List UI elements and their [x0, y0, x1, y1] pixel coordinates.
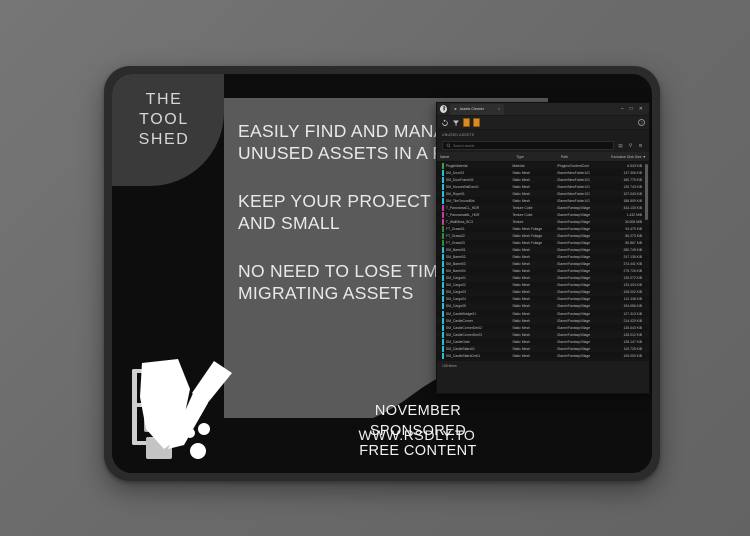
cell-path: /Game/FantasyVillage	[554, 312, 601, 316]
asset-type-color-icon	[442, 311, 444, 317]
cell-size: 94.479 KiB	[600, 227, 645, 231]
asset-name-label: SM_TileGroundBrk	[446, 199, 475, 203]
table-row[interactable]: T_PanoramaML_HDRTexture Cube/Game/Fantas…	[437, 211, 649, 218]
asset-type-color-icon	[442, 318, 444, 324]
brand-logo-panel: THE TOOL SHED	[112, 74, 224, 186]
cell-size: 214.420 KiB	[600, 319, 645, 323]
cell-size: 1.432 MiB	[600, 213, 645, 217]
cell-type: Static Mesh	[509, 178, 554, 182]
tablet-screen: EASILY FIND AND MANAGE UNUSED ASSETS IN …	[112, 74, 652, 473]
cell-path: /Game/FantasyVillage	[554, 326, 601, 330]
cell-size: 108.002 KiB	[600, 290, 645, 294]
cell-size: 6.543 KiB	[600, 164, 645, 168]
table-row[interactable]: SM_HouseWallDec01Static Mesh/Game/NewFol…	[437, 183, 649, 190]
asset-name-label: SM_Barrel03	[446, 262, 466, 266]
cell-type: Static Mesh	[509, 297, 554, 301]
asset-type-color-icon	[442, 184, 444, 190]
table-row[interactable]: T_PanoramaCL_HDRTexture Cube/Game/Fantas…	[437, 204, 649, 211]
cell-name: SM_Cargo04	[437, 296, 509, 302]
cell-type: Static Mesh	[509, 171, 554, 175]
cell-path: /Game/FantasyVillage	[554, 290, 601, 294]
table-row[interactable]: FT_Grass02Static Mesh Foliage/Game/Fanta…	[437, 232, 649, 239]
cell-path: /Game/NewFolder1/G	[554, 199, 601, 203]
cell-path: /Game/FantasyVillage	[554, 262, 601, 266]
asset-name-label: PluginMaterial	[446, 164, 468, 168]
cell-path: /Game/FantasyVillage	[554, 276, 601, 280]
asset-name-label: SM_CastleCorner	[446, 319, 473, 323]
table-row[interactable]: SM_CastleStairsDm02Static Mesh/Game/Fant…	[437, 359, 649, 360]
asset-name-label: SM_Cargo01	[446, 276, 466, 280]
cell-path: /Game/FantasyVillage	[554, 241, 601, 245]
cell-size: 127.313 KiB	[600, 312, 645, 316]
cell-type: Static Mesh	[509, 304, 554, 308]
search-input[interactable]: Search assets	[442, 141, 614, 150]
brand-line-3: SHED	[112, 130, 216, 150]
cell-path: /Game/FantasyVillage	[554, 297, 601, 301]
table-row[interactable]: SM_TileGroundBrkStatic Mesh/Game/NewFold…	[437, 197, 649, 204]
cell-size: 80.867 KiB	[600, 241, 645, 245]
cell-type: Static Mesh Foliage	[509, 241, 554, 245]
column-header-size-label: Exclusive Disk Size	[611, 155, 641, 159]
table-row[interactable]: SM_DoorFrame01Static Mesh/Game/NewFolder…	[437, 176, 649, 183]
assets-cleaner-window[interactable]: ► Assets Cleaner x – □ ✕	[436, 102, 650, 394]
cell-name: PluginMaterial	[437, 163, 509, 169]
asset-type-color-icon	[442, 212, 444, 218]
column-header-name[interactable]: Name	[437, 155, 513, 159]
table-row[interactable]: SM_CastleStairs01Static Mesh/Game/Fantas…	[437, 345, 649, 352]
cell-type: Static Mesh	[509, 290, 554, 294]
asset-type-color-icon	[442, 226, 444, 232]
cell-path: /Game/NewFolder1/G	[554, 185, 601, 189]
help-icon[interactable]: ?	[638, 119, 645, 126]
cell-name: SM_TileGroundBrk	[437, 198, 509, 204]
tablet-device: EASILY FIND AND MANAGE UNUSED ASSETS IN …	[104, 66, 660, 481]
cell-path: /Game/NewFolder1/G	[554, 192, 601, 196]
table-row[interactable]: SM_Cargo03Static Mesh/Game/FantasyVillag…	[437, 289, 649, 296]
cell-name: FT_Grass03	[437, 240, 509, 246]
cell-size: 180.779 KiB	[600, 178, 645, 182]
cell-name: SM_CastleCornerDm03	[437, 332, 509, 338]
close-icon[interactable]: ✕	[639, 107, 643, 112]
table-row[interactable]: SM_Door03Static Mesh/Game/NewFolder1/G13…	[437, 169, 649, 176]
cell-size: 135.012 KiB	[600, 333, 645, 337]
cell-size: 194.656 KiB	[600, 304, 645, 308]
cell-size: 80.273 KiB	[600, 234, 645, 238]
cell-type: Static Mesh	[509, 269, 554, 273]
asset-type-color-icon	[442, 303, 444, 309]
cell-type: Material	[509, 164, 554, 168]
cell-type: Static Mesh	[509, 347, 554, 351]
asset-type-color-icon	[442, 275, 444, 281]
cell-name: SM_HouseWallDec01	[437, 184, 509, 190]
asset-name-label: SM_Cargo04	[446, 297, 466, 301]
unreal-engine-logo-icon	[440, 105, 447, 113]
search-icon	[446, 143, 451, 148]
asset-name-label: SM_Cargo03	[446, 290, 466, 294]
asset-type-color-icon	[442, 163, 444, 169]
cell-type: Static Mesh	[509, 199, 554, 203]
cell-size: 280.749 KiB	[600, 248, 645, 252]
asset-type-color-icon	[442, 339, 444, 345]
cell-size: 105.000 KiB	[600, 354, 645, 358]
table-rows[interactable]: PluginMaterialMaterial/Plugins/ContentCo…	[437, 162, 649, 360]
promo-line-1: NOVEMBER	[318, 401, 518, 421]
cell-size: 112.446 KiB	[600, 297, 645, 301]
asset-type-color-icon	[442, 261, 444, 267]
cell-type: Static Mesh	[509, 276, 554, 280]
cell-path: /Game/FantasyVillage	[554, 269, 601, 273]
table-row[interactable]: SM_Rope01Static Mesh/Game/NewFolder1/G10…	[437, 190, 649, 197]
table-row[interactable]: SM_Cargo02Static Mesh/Game/FantasyVillag…	[437, 282, 649, 289]
column-header-size[interactable]: Exclusive Disk Size ▼	[604, 155, 649, 159]
cell-size: 186.809 KiB	[600, 199, 645, 203]
asset-type-color-icon	[442, 296, 444, 302]
asset-name-label: FT_Grass03	[446, 241, 465, 245]
asset-name-label: FT_Grass02	[446, 234, 465, 238]
play-icon: ►	[454, 107, 458, 111]
cell-path: /Game/FantasyVillage	[554, 354, 601, 358]
cell-name: T_WallMoss_BC3	[437, 219, 509, 225]
cell-path: /Game/FantasyVillage	[554, 347, 601, 351]
window-tab[interactable]: ► Assets Cleaner x	[450, 104, 504, 115]
table-row[interactable]: SM_Cargo04Static Mesh/Game/FantasyVillag…	[437, 296, 649, 303]
cell-path: /Game/FantasyVillage	[554, 304, 601, 308]
cell-name: SM_CastleStairsDm01	[437, 353, 509, 359]
poster-canvas: EASILY FIND AND MANAGE UNUSED ASSETS IN …	[0, 0, 750, 536]
cell-name: SM_Rope01	[437, 191, 509, 197]
cell-size: 247.135 KiB	[600, 255, 645, 259]
asset-type-color-icon	[442, 268, 444, 274]
cell-size: 275.726 KiB	[600, 269, 645, 273]
table-row[interactable]: SM_CastleGateStatic Mesh/Game/FantasyVil…	[437, 338, 649, 345]
settings-gear-icon[interactable]: ⚙	[637, 142, 644, 149]
maximize-icon[interactable]: □	[630, 107, 633, 112]
search-placeholder: Search assets	[453, 144, 475, 148]
cell-type: Static Mesh	[509, 248, 554, 252]
asset-name-label: FT_Grass01	[446, 227, 465, 231]
cell-type: Static Mesh	[509, 192, 554, 196]
table-row[interactable]: FT_Grass03Static Mesh Foliage/Game/Fanta…	[437, 240, 649, 247]
cell-name: FT_Grass01	[437, 226, 509, 232]
asset-name-label: SM_Barrel02	[446, 255, 466, 259]
brand-line-2: TOOL	[112, 110, 216, 130]
asset-name-label: SM_CastleGate	[446, 340, 470, 344]
cell-type: Static Mesh	[509, 326, 554, 330]
asset-name-label: SM_CastleStairs01	[446, 347, 475, 351]
watermark-url: WWW.RSDLY.TO	[302, 427, 532, 443]
asset-type-color-icon	[442, 233, 444, 239]
cell-name: SM_Cargo03	[437, 289, 509, 295]
asset-type-color-icon	[442, 247, 444, 253]
section-label: UNUSED ASSETS	[437, 130, 649, 139]
table-row[interactable]: SM_CastleBridge01Static Mesh/Game/Fantas…	[437, 310, 649, 317]
asset-name-label: SM_Rope01	[446, 192, 465, 196]
asset-type-color-icon	[442, 346, 444, 352]
table-row[interactable]: SM_CastleCornerDm02Static Mesh/Game/Fant…	[437, 324, 649, 331]
search-row[interactable]: Search assets ▤ ∇ ⚙	[437, 139, 649, 152]
asset-type-color-icon	[442, 282, 444, 288]
minimize-icon[interactable]: –	[621, 107, 624, 112]
table-row[interactable]: SM_CastleCornerStatic Mesh/Game/FantasyV…	[437, 317, 649, 324]
asset-type-color-icon	[442, 240, 444, 246]
cell-path: /Game/FantasyVillage	[554, 206, 601, 210]
cell-name: SM_Cargo02	[437, 282, 509, 288]
asset-name-label: SM_Cargo02	[446, 283, 466, 287]
cell-type: Static Mesh	[509, 340, 554, 344]
asset-name-label: SM_CastleCornerDm02	[446, 326, 482, 330]
asset-type-color-icon	[442, 219, 444, 225]
cell-type: Texture Cube	[509, 206, 554, 210]
cell-name: T_PanoramaML_HDR	[437, 212, 509, 218]
brand-logo-text: THE TOOL SHED	[112, 90, 216, 150]
table-row[interactable]: T_WallMoss_BC3Texture/Game/FantasyVillag…	[437, 218, 649, 225]
cell-name: SM_CastleStairs01	[437, 346, 509, 352]
cell-name: SM_CastleCorner	[437, 318, 509, 324]
table-row[interactable]: SM_Barrel04Static Mesh/Game/FantasyVilla…	[437, 268, 649, 275]
cell-name: SM_CastleGate	[437, 339, 509, 345]
refresh-icon[interactable]	[441, 119, 449, 127]
window-controls[interactable]: – □ ✕	[621, 107, 646, 112]
cell-name: SM_Door03	[437, 170, 509, 176]
cell-type: Texture Cube	[509, 213, 554, 217]
cell-type: Static Mesh	[509, 185, 554, 189]
filter-dropdown-icon[interactable]: ∇	[627, 142, 634, 149]
cell-size: 133.404 KiB	[600, 283, 645, 287]
cell-path: /Game/FantasyVillage	[554, 283, 601, 287]
cell-size: 135.643 KiB	[600, 326, 645, 330]
asset-name-label: SM_DoorFrame01	[446, 178, 474, 182]
table-row[interactable]: SM_Barrel01Static Mesh/Game/FantasyVilla…	[437, 247, 649, 254]
cell-size: 434.130 KiB	[600, 206, 645, 210]
column-header-path[interactable]: Path	[558, 155, 605, 159]
cell-type: Static Mesh	[509, 255, 554, 259]
asset-type-color-icon	[442, 332, 444, 338]
cell-size: 374.441 KiB	[600, 262, 645, 266]
asset-type-color-icon	[442, 353, 444, 359]
cell-size: 130.072 KiB	[600, 276, 645, 280]
asset-type-color-icon	[442, 205, 444, 211]
asset-type-color-icon	[442, 170, 444, 176]
asset-name-label: SM_Barrel01	[446, 248, 466, 252]
cell-name: SM_CastleCornerDm02	[437, 325, 509, 331]
cell-type: Texture	[509, 220, 554, 224]
cell-size: 34.006 MiB	[600, 220, 645, 224]
cell-path: /Game/FantasyVillage	[554, 333, 601, 337]
cell-size: 130.743 KiB	[600, 185, 645, 189]
cell-path: /Game/FantasyVillage	[554, 220, 601, 224]
asset-name-label: SM_CastleBridge01	[446, 312, 476, 316]
cell-type: Static Mesh	[509, 312, 554, 316]
table-row[interactable]: SM_Cargo05Static Mesh/Game/FantasyVillag…	[437, 303, 649, 310]
delete-all-button[interactable]	[473, 118, 480, 127]
cell-size: 128.147 KiB	[600, 340, 645, 344]
cell-path: /Game/FantasyVillage	[554, 234, 601, 238]
asset-name-label: SM_Door03	[446, 171, 464, 175]
cell-name: SM_Cargo01	[437, 275, 509, 281]
asset-name-label: SM_Cargo05	[446, 304, 466, 308]
promo-line-3: FREE CONTENT	[318, 441, 518, 461]
asset-type-color-icon	[442, 177, 444, 183]
asset-name-label: T_WallMoss_BC3	[446, 220, 473, 224]
cell-name: SM_Barrel04	[437, 268, 509, 274]
cell-size: 110.725 KiB	[600, 347, 645, 351]
cell-path: /Game/FantasyVillage	[554, 319, 601, 323]
table-row[interactable]: SM_CastleCornerDm03Static Mesh/Game/Fant…	[437, 331, 649, 338]
sort-indicator-icon: ▼	[643, 155, 646, 159]
cell-path: /Game/FantasyVillage	[554, 248, 601, 252]
assets-table: Name Type Path Exclusive Disk Size ▼ Plu…	[437, 152, 649, 360]
table-row[interactable]: SM_Cargo01Static Mesh/Game/FantasyVillag…	[437, 275, 649, 282]
cell-type: Static Mesh	[509, 354, 554, 358]
delete-selected-button[interactable]	[463, 118, 470, 127]
asset-name-label: T_PanoramaML_HDR	[446, 213, 480, 217]
cell-type: Static Mesh	[509, 283, 554, 287]
folder-icon[interactable]: ▤	[617, 142, 624, 149]
asset-type-color-icon	[442, 325, 444, 331]
cell-name: SM_Barrel03	[437, 261, 509, 267]
asset-type-color-icon	[442, 254, 444, 260]
column-header-type[interactable]: Type	[513, 155, 558, 159]
cell-size: 107.043 KiB	[600, 192, 645, 196]
vertical-scrollbar[interactable]	[645, 164, 648, 220]
cell-path: /Game/FantasyVillage	[554, 213, 601, 217]
cell-name: SM_Barrel01	[437, 247, 509, 253]
asset-type-color-icon	[442, 191, 444, 197]
table-row[interactable]: FT_Grass01Static Mesh Foliage/Game/Fanta…	[437, 225, 649, 232]
broom-cleaning-icon	[128, 353, 244, 463]
cell-name: SM_Barrel02	[437, 254, 509, 260]
table-row[interactable]: SM_Barrel02Static Mesh/Game/FantasyVilla…	[437, 254, 649, 261]
cell-path: /Game/FantasyVillage	[554, 227, 601, 231]
table-row[interactable]: SM_CastleStairsDm01Static Mesh/Game/Fant…	[437, 352, 649, 359]
brand-line-1: THE	[112, 90, 216, 110]
asset-name-label: SM_CastleCornerDm03	[446, 333, 482, 337]
asset-name-label: T_PanoramaCL_HDR	[446, 206, 479, 210]
cell-type: Static Mesh Foliage	[509, 227, 554, 231]
window-toolbar[interactable]: ?	[437, 116, 649, 130]
window-titlebar[interactable]: ► Assets Cleaner x – □ ✕	[437, 103, 649, 116]
cell-type: Static Mesh Foliage	[509, 234, 554, 238]
table-row[interactable]: PluginMaterialMaterial/Plugins/ContentCo…	[437, 162, 649, 169]
table-row[interactable]: SM_Barrel03Static Mesh/Game/FantasyVilla…	[437, 261, 649, 268]
cell-type: Static Mesh	[509, 262, 554, 266]
cell-path: /Game/NewFolder1/G	[554, 171, 601, 175]
asset-type-color-icon	[442, 289, 444, 295]
asset-name-label: SM_Barrel04	[446, 269, 466, 273]
cell-path: /Game/FantasyVillage	[554, 255, 601, 259]
cell-path: /Plugins/ContentCont	[554, 164, 601, 168]
cell-name: T_PanoramaCL_HDR	[437, 205, 509, 211]
cell-name: SM_DoorFrame01	[437, 177, 509, 183]
asset-name-label: SM_HouseWallDec01	[446, 185, 479, 189]
filter-icon[interactable]	[452, 119, 460, 127]
cell-name: SM_CastleBridge01	[437, 311, 509, 317]
table-header[interactable]: Name Type Path Exclusive Disk Size ▼	[437, 152, 649, 162]
cell-size: 137.306 KiB	[600, 171, 645, 175]
cell-path: /Game/NewFolder1/G	[554, 178, 601, 182]
cell-name: SM_Cargo05	[437, 303, 509, 309]
tab-close-icon[interactable]: x	[498, 107, 500, 111]
cell-type: Static Mesh	[509, 319, 554, 323]
cell-type: Static Mesh	[509, 333, 554, 337]
asset-type-color-icon	[442, 198, 444, 204]
window-title: Assets Cleaner	[460, 107, 484, 111]
cell-path: /Game/FantasyVillage	[554, 340, 601, 344]
status-bar: 108 items	[437, 360, 649, 371]
cell-name: FT_Grass02	[437, 233, 509, 239]
asset-name-label: SM_CastleStairsDm01	[446, 354, 480, 358]
